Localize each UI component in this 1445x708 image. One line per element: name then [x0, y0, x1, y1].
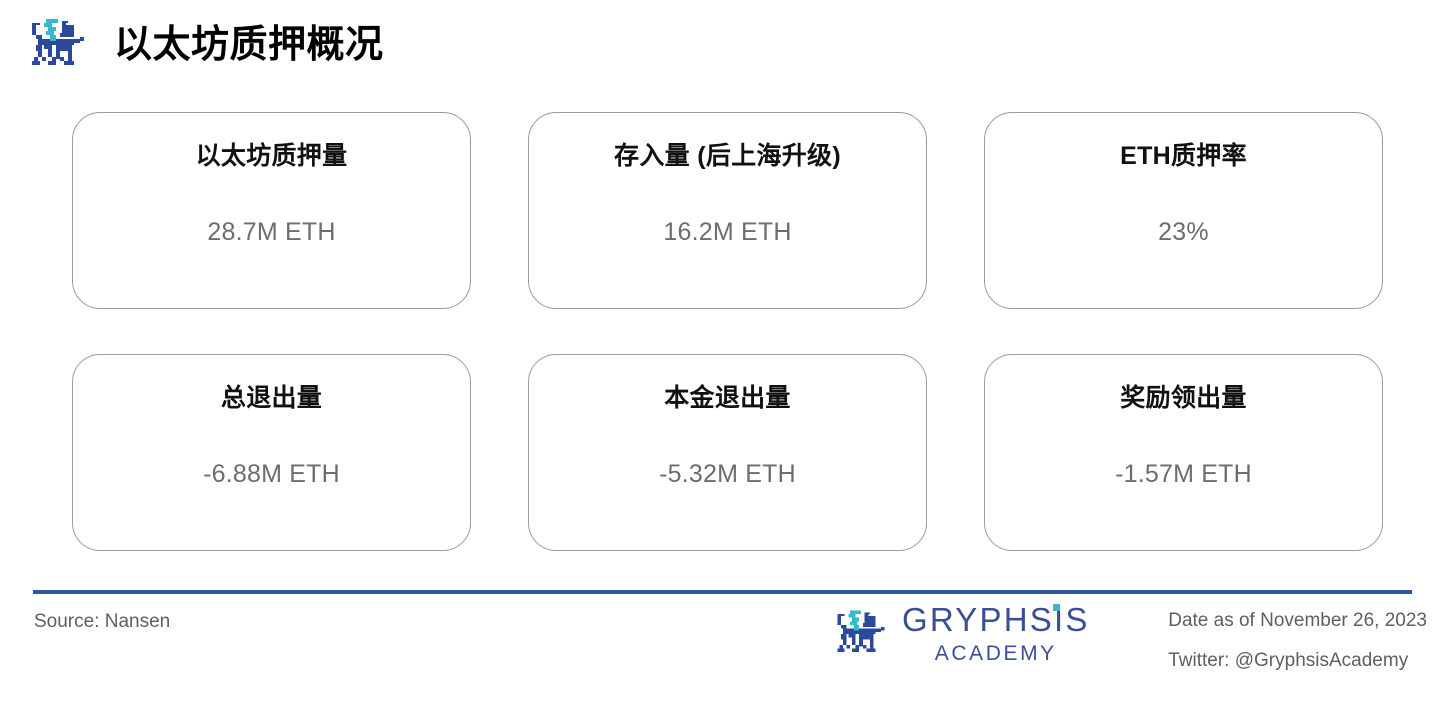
source-label: Source: Nansen — [34, 611, 170, 633]
metric-card: 奖励领出量 -1.57M ETH — [984, 354, 1383, 551]
metric-card-value: -1.57M ETH — [985, 460, 1382, 489]
footer-twitter-handle: Twitter: @GryphsisAcademy — [1168, 650, 1427, 672]
metric-card-title: 存入量 (后上海升级) — [547, 141, 908, 171]
metric-card-title: 总退出量 — [91, 383, 452, 413]
brand-wordmark-main-text: GRYPHSIS — [902, 601, 1090, 638]
metrics-grid: 以太坊质押量 28.7M ETH 存入量 (后上海升级) 16.2M ETH E… — [72, 112, 1383, 551]
brand-wordmark-sub: ACADEMY — [935, 643, 1057, 664]
page-title: 以太坊质押概况 — [114, 26, 384, 64]
metric-card-value: 16.2M ETH — [529, 218, 926, 247]
metric-card: 本金退出量 -5.32M ETH — [528, 354, 927, 551]
slide-root: 以太坊质押概况 以太坊质押量 28.7M ETH 存入量 (后上海升级) 16.… — [0, 0, 1445, 708]
footer-date: Date as of November 26, 2023 — [1168, 610, 1427, 632]
metric-card-value: 28.7M ETH — [73, 218, 470, 247]
brand-wordmark: GRYPHSIS ACADEMY — [902, 603, 1090, 664]
metric-card: ETH质押率 23% — [984, 112, 1383, 309]
metric-card-title: 以太坊质押量 — [91, 141, 452, 171]
brand-wordmark-main: GRYPHSIS — [902, 603, 1090, 636]
metric-card-title: 奖励领出量 — [1003, 383, 1364, 413]
metric-card: 总退出量 -6.88M ETH — [72, 354, 471, 551]
wordmark-accent-dot-icon — [1053, 604, 1060, 611]
gryphon-logo-icon — [26, 17, 90, 73]
footer-meta: Date as of November 26, 2023 Twitter: @G… — [1168, 610, 1427, 672]
metric-card: 存入量 (后上海升级) 16.2M ETH — [528, 112, 927, 309]
page-header: 以太坊质押概况 — [26, 12, 384, 78]
metric-card-value: -6.88M ETH — [73, 460, 470, 489]
page-footer: Source: Nansen — [0, 594, 1445, 708]
metric-card-value: 23% — [985, 218, 1382, 247]
metric-card-title: ETH质押率 — [1003, 141, 1364, 171]
metric-card: 以太坊质押量 28.7M ETH — [72, 112, 471, 309]
metric-card-value: -5.32M ETH — [529, 460, 926, 489]
footer-brand-logo: GRYPHSIS ACADEMY — [832, 603, 1090, 664]
gryphon-logo-icon — [832, 608, 890, 660]
metric-card-title: 本金退出量 — [547, 383, 908, 413]
